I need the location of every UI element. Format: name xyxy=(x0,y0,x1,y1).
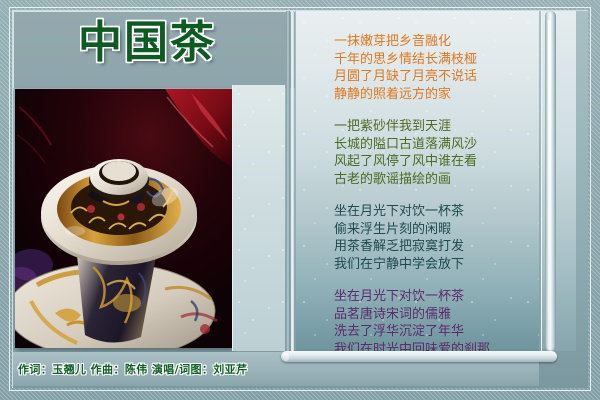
lyric-line: 一把紫砂伴我到天涯 xyxy=(334,118,534,136)
credits-text: 作词：玉翘儿 作曲：陈伟 演唱/词图：刘亚芹 xyxy=(18,363,247,377)
lyric-line: 长城的隘口古道落满风沙 xyxy=(334,136,534,154)
page-title: 中国茶 xyxy=(78,14,238,74)
lyric-stanza: 一抹嫩芽把乡音融化千年的思乡情结长满枝桠月圆了月缺了月亮不说话静静的照着远方的家 xyxy=(334,33,534,103)
horizontal-scroll-bar[interactable] xyxy=(281,351,557,362)
lyric-stanza: 坐在月光下对饮一杯茶偷来浮生片刻的闲暇用茶香解乏把寂寞打发我们在宁静中学会放下 xyxy=(334,203,534,273)
lyric-line: 偷来浮生片刻的闲暇 xyxy=(334,221,534,239)
lyric-line: 静静的照着远方的家 xyxy=(334,86,534,104)
horizontal-scroll-thumb-cap[interactable] xyxy=(283,353,289,361)
lyric-stanza: 一把紫砂伴我到天涯长城的隘口古道落满风沙风起了风停了风中谁在看古老的歌谣描绘的画 xyxy=(334,118,534,188)
lyric-line: 月圆了月缺了月亮不说话 xyxy=(334,68,534,86)
lyric-line: 坐在月光下对饮一杯茶 xyxy=(334,203,534,221)
lyric-line: 洗去了浮华沉淀了年华 xyxy=(334,323,534,341)
lyric-line: 我们在时光中回味爱的刹那 xyxy=(334,341,534,352)
panel-gap-column xyxy=(232,85,285,351)
divider-rail-inner xyxy=(291,11,294,351)
lyric-line: 一抹嫩芽把乡音融化 xyxy=(334,33,534,51)
tea-cup-photo xyxy=(15,89,232,348)
tea-cup-illustration xyxy=(15,89,232,348)
lyrics-text-block: 一抹嫩芽把乡音融化千年的思乡情结长满枝桠月圆了月缺了月亮不说话静静的照着远方的家… xyxy=(334,33,534,351)
lyric-line: 我们在宁静中学会放下 xyxy=(334,256,534,274)
lyric-line: 坐在月光下对饮一杯茶 xyxy=(334,288,534,306)
lyric-stanza: 坐在月光下对饮一杯茶品茗唐诗宋词的儒雅洗去了浮华沉淀了年华我们在时光中回味爱的刹… xyxy=(334,288,534,351)
lyrics-panel: 一抹嫩芽把乡音融化千年的思乡情结长满枝桠月圆了月缺了月亮不说话静静的照着远方的家… xyxy=(296,11,539,351)
divider-rail-outer xyxy=(286,11,290,351)
lyric-line: 品茗唐诗宋词的儒雅 xyxy=(334,306,534,324)
page-root: 中国茶 xyxy=(0,0,600,400)
panel-gap-speckle xyxy=(233,85,285,351)
lyric-line: 风起了风停了风中谁在看 xyxy=(334,153,534,171)
lyric-line: 千年的思乡情结长满枝桠 xyxy=(334,51,534,69)
lyric-line: 古老的歌谣描绘的画 xyxy=(334,171,534,189)
lyric-line: 用茶香解乏把寂寞打发 xyxy=(334,238,534,256)
vertical-scroll-thumb[interactable] xyxy=(548,20,551,320)
